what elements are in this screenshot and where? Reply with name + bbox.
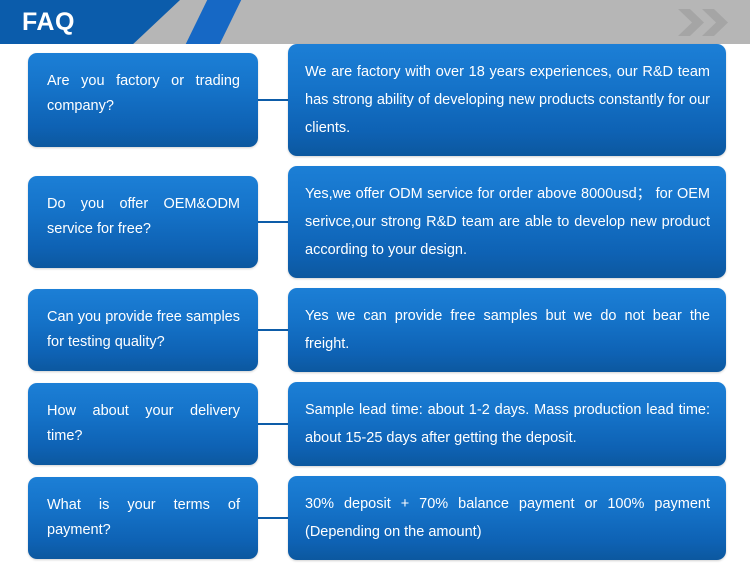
faq-question-text: How about your delivery time? [47, 399, 240, 449]
faq-connector-line [258, 221, 288, 223]
faq-answer-box[interactable]: Yes we can provide free samples but we d… [288, 288, 726, 372]
faq-question-box[interactable]: Are you factory or trading company? [28, 53, 258, 147]
faq-answer-text: 30% deposit + 70% balance payment or 100… [305, 490, 710, 546]
faq-item: Do you offer OEM&ODM service for free? Y… [0, 166, 750, 278]
faq-question-text: What is your terms of payment? [47, 493, 240, 543]
faq-item: Can you provide free samples for testing… [0, 288, 750, 372]
faq-connector-line [258, 329, 288, 331]
faq-connector-line [258, 423, 288, 425]
faq-question-box[interactable]: How about your delivery time? [28, 383, 258, 465]
faq-connector-line [258, 517, 288, 519]
faq-answer-text: We are factory with over 18 years experi… [305, 58, 710, 142]
faq-answer-text: Yes,we offer ODM service for order above… [305, 180, 710, 264]
header-accent-stripe [183, 0, 243, 44]
faq-answer-box[interactable]: We are factory with over 18 years experi… [288, 44, 726, 156]
chevron-right-icon [702, 9, 728, 36]
faq-question-box[interactable]: What is your terms of payment? [28, 477, 258, 559]
faq-answer-box[interactable]: Sample lead time: about 1-2 days. Mass p… [288, 382, 726, 466]
faq-question-text: Do you offer OEM&ODM service for free? [47, 192, 240, 242]
page-title: FAQ [22, 8, 75, 36]
faq-item: Are you factory or trading company? We a… [0, 44, 750, 156]
faq-answer-text: Sample lead time: about 1-2 days. Mass p… [305, 396, 710, 452]
faq-answer-box[interactable]: 30% deposit + 70% balance payment or 100… [288, 476, 726, 560]
double-chevron-right-icon [678, 9, 736, 36]
faq-answer-text: Yes we can provide free samples but we d… [305, 302, 710, 358]
faq-answer-box[interactable]: Yes,we offer ODM service for order above… [288, 166, 726, 278]
faq-item: What is your terms of payment? 30% depos… [0, 476, 750, 560]
faq-question-box[interactable]: Do you offer OEM&ODM service for free? [28, 176, 258, 268]
faq-item: How about your delivery time? Sample lea… [0, 382, 750, 466]
chevron-right-icon [678, 9, 704, 36]
faq-list: Are you factory or trading company? We a… [0, 44, 750, 586]
faq-header-banner: FAQ [0, 0, 750, 44]
faq-question-text: Can you provide free samples for testing… [47, 305, 240, 355]
faq-question-text: Are you factory or trading company? [47, 69, 240, 119]
faq-page: FAQ Are you factory or trading company? … [0, 0, 750, 586]
faq-question-box[interactable]: Can you provide free samples for testing… [28, 289, 258, 371]
faq-connector-line [258, 99, 288, 101]
